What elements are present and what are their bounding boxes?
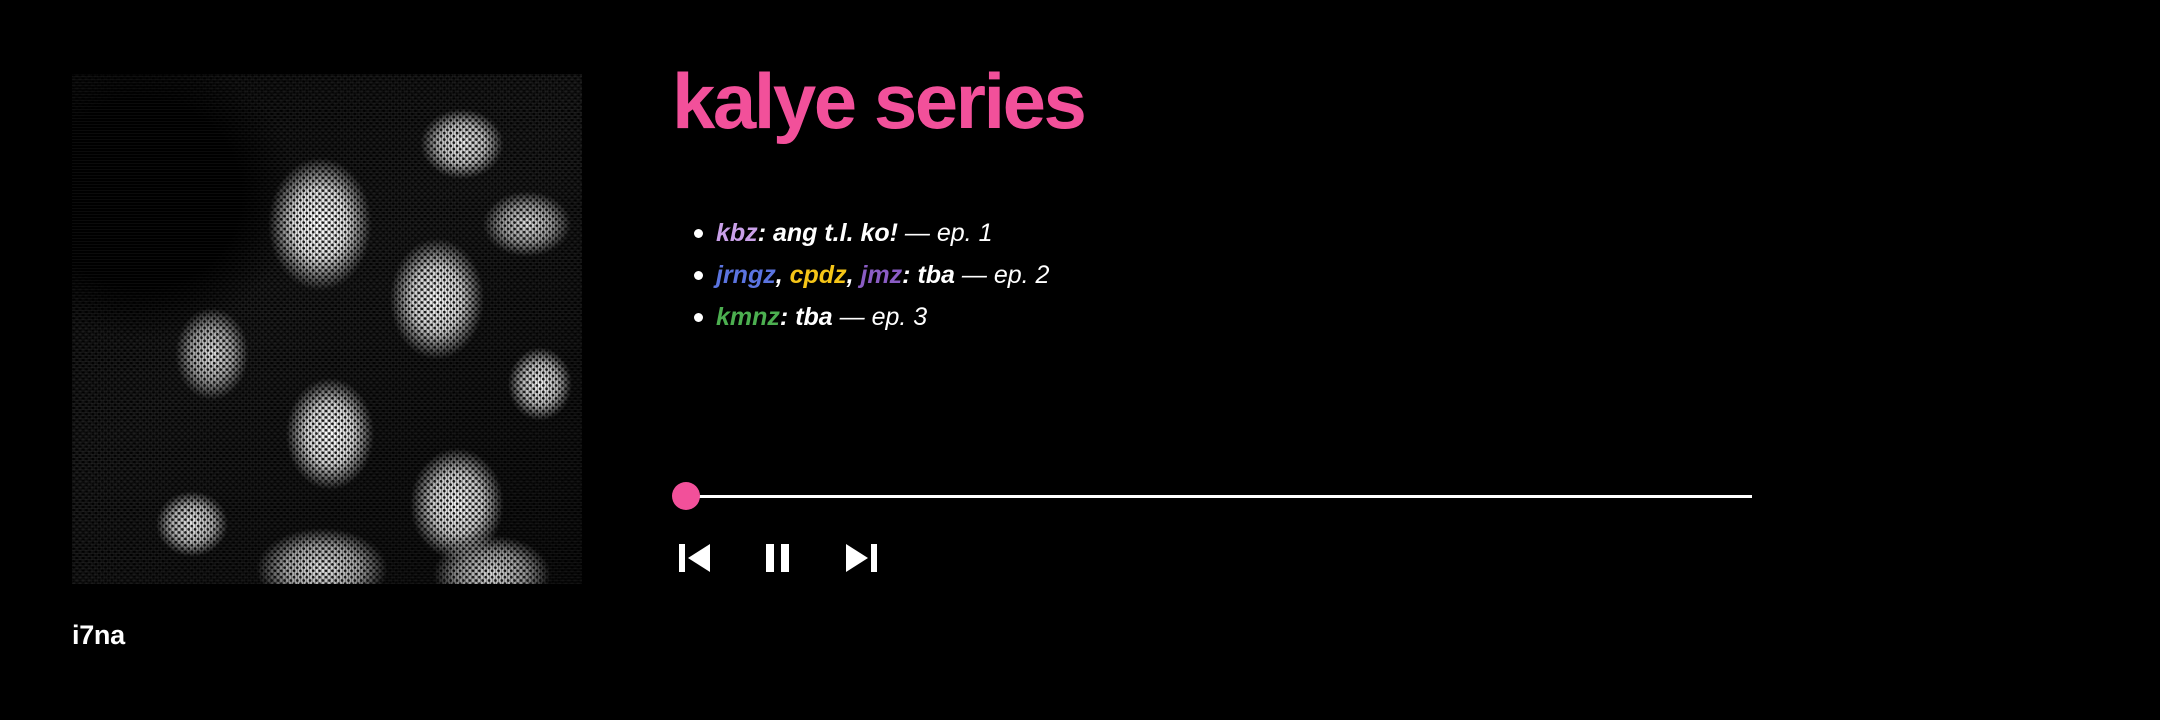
track-artist-tag: cpdz: [790, 261, 847, 289]
track-artist-tag: kmnz: [716, 303, 780, 331]
info-column: kalye series kbz: ang t.l. ko! — ep. 1jr…: [672, 62, 2072, 338]
colon-separator: :: [902, 261, 917, 289]
episode-label: ep. 2: [994, 261, 1050, 289]
colon-separator: :: [758, 219, 773, 247]
artist-separator: ,: [847, 261, 861, 289]
colon-separator: :: [780, 303, 795, 331]
track-list: kbz: ang t.l. ko! — ep. 1jrngz, cpdz, jm…: [672, 212, 2072, 338]
next-track-icon: [840, 536, 884, 580]
artist-label: i7na: [72, 620, 582, 651]
progress-thumb[interactable]: [672, 482, 700, 510]
next-track-button[interactable]: [840, 536, 884, 580]
list-item[interactable]: kbz: ang t.l. ko! — ep. 1: [672, 212, 2072, 254]
album-art-column: i7na: [72, 74, 582, 651]
track-title: tba: [917, 261, 955, 289]
track-title: ang t.l. ko!: [773, 219, 898, 247]
page-title: kalye series: [672, 62, 2072, 140]
track-title: tba: [795, 303, 833, 331]
dash-separator: —: [898, 219, 937, 247]
list-item[interactable]: jrngz, cpdz, jmz: tba — ep. 2: [672, 254, 2072, 296]
artist-separator: ,: [776, 261, 790, 289]
transport-controls: [672, 536, 884, 580]
pause-button[interactable]: [756, 536, 800, 580]
pause-icon: [756, 536, 800, 580]
track-artist-tag: kbz: [716, 219, 758, 247]
music-player-screen: i7na kalye series kbz: ang t.l. ko! — ep…: [0, 0, 2160, 720]
progress-slider[interactable]: [672, 482, 1752, 510]
episode-label: ep. 3: [872, 303, 928, 331]
previous-track-icon: [672, 536, 716, 580]
album-artwork[interactable]: [72, 74, 582, 584]
progress-track[interactable]: [686, 495, 1752, 498]
dash-separator: —: [955, 261, 994, 289]
track-artist-tag: jrngz: [716, 261, 776, 289]
dash-separator: —: [833, 303, 872, 331]
episode-label: ep. 1: [937, 219, 993, 247]
list-item[interactable]: kmnz: tba — ep. 3: [672, 296, 2072, 338]
track-artist-tag: jmz: [860, 261, 902, 289]
previous-track-button[interactable]: [672, 536, 716, 580]
grain-overlay-icon: [72, 74, 582, 584]
